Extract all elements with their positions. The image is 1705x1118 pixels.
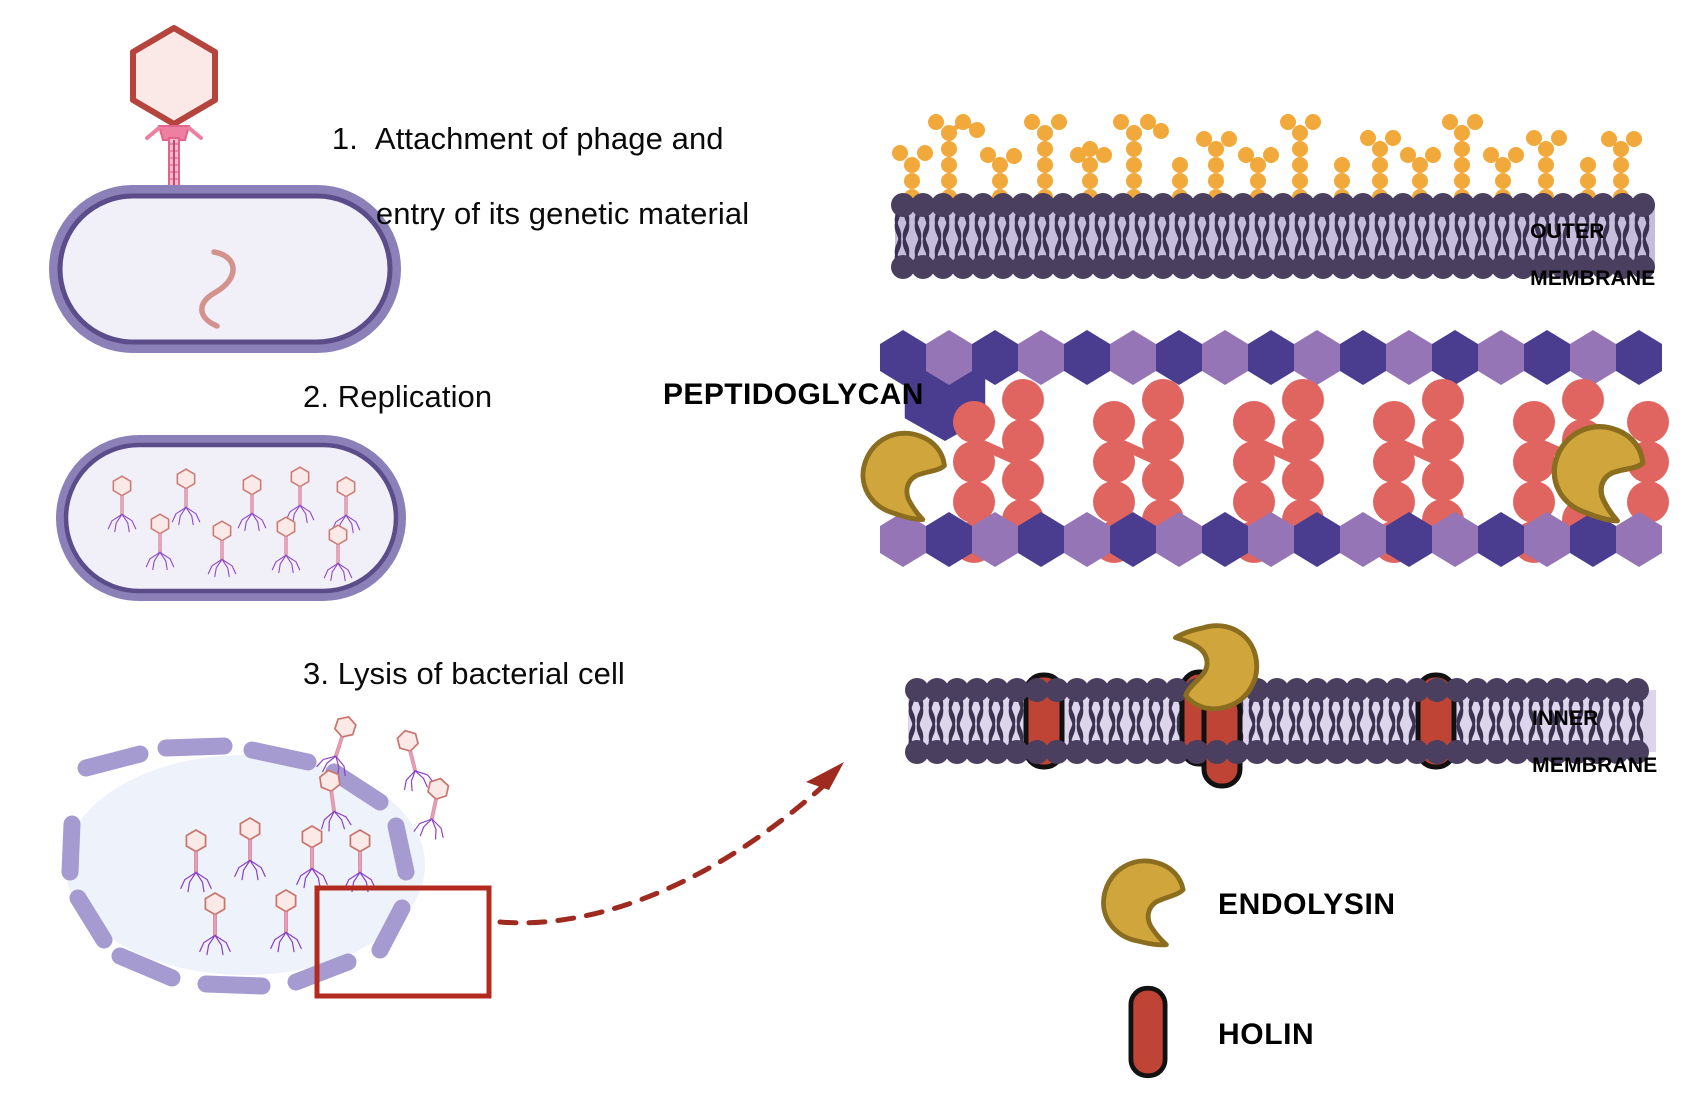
step-2-label: 2. Replication [303,378,492,416]
outer-membrane-label: OUTER MEMBRANE [1506,196,1655,314]
legend-holin-glyph [1131,988,1165,1075]
step-1-line2: entry of its genetic material [376,196,749,231]
outer-membrane-label-line2: MEMBRANE [1530,267,1655,290]
legend-endolysin-glyph [1095,852,1188,949]
step-1-line1: Attachment of phage and [375,121,724,156]
zoom-callout-arrow [500,762,844,923]
step-1-label: 1.Attachment of phage and entry of its g… [297,82,749,271]
lps-chains [892,114,1642,205]
pg-bottom-row [880,512,1662,567]
step-3-label: 3. Lysis of bacterial cell [303,655,625,693]
step-1-number: 1. [332,121,358,156]
endolysin-left [852,421,951,524]
diagram-canvas: 1.Attachment of phage and entry of its g… [0,0,1705,1118]
bacterium-step2 [66,445,396,591]
lysed-bacterium-step3 [65,712,455,986]
outer-membrane-label-line1: OUTER [1530,220,1605,243]
peptidoglycan-label: PEPTIDOGLYCAN [663,378,924,412]
legend-endolysin-label: ENDOLYSIN [1218,888,1396,922]
inner-membrane-label: INNER MEMBRANE [1508,683,1657,801]
legend-holin-label: HOLIN [1218,1018,1314,1052]
inner-membrane-label-line2: MEMBRANE [1532,754,1657,777]
pg-top-row [880,330,1662,385]
phage-head [133,28,215,124]
inner-membrane-label-line1: INNER [1532,707,1598,730]
diagram-artwork [0,0,1705,1118]
peptidoglycan-layer [852,330,1669,567]
